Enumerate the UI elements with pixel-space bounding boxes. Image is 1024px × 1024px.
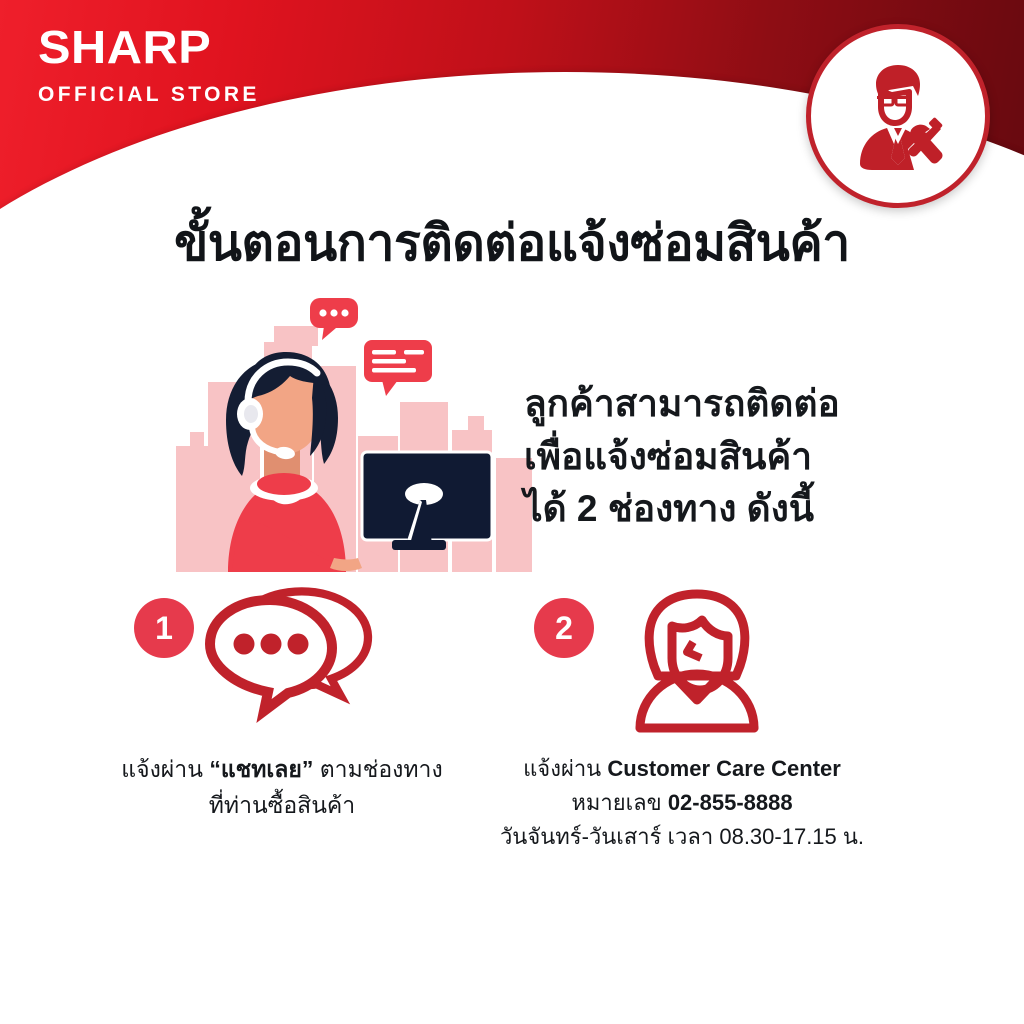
computer-monitor-shape [362,452,492,550]
channel-1-caption-pre: แจ้งผ่าน [121,756,209,782]
lead-line-1: ลูกค้าสามารถติดต่อ [524,378,934,431]
channel-1-icon-wrap [202,586,392,736]
lead-line-3: ได้ 2 ช่องทาง ดังนี้ [524,483,934,536]
channel-1-caption: แจ้งผ่าน “แชทเลย” ตามช่องทาง ที่ท่านซื้อ… [62,752,502,823]
technician-badge [806,24,990,208]
channel-2-phone-number: 02-855-8888 [668,790,793,815]
call-center-illustration [168,286,540,572]
channel-2-hours: วันจันทร์-วันเสาร์ เวลา 08.30-17.15 น. [462,820,902,854]
brand-name: SHARP [38,24,273,70]
brand-subtitle: OFFICIAL STORE [38,83,260,107]
lead-line-2: เพื่อแจ้งซ่อมสินค้า [524,431,934,484]
lead-paragraph: ลูกค้าสามารถติดต่อ เพื่อแจ้งซ่อมสินค้า ไ… [524,378,934,536]
channel-1-caption-line-2: ที่ท่านซื้อสินค้า [62,788,502,824]
brand-lockup: SHARP OFFICIAL STORE [38,24,260,107]
channel-1-caption-post: ตามช่องทาง [313,756,442,782]
call-center-agent-at-computer-illustration [168,286,540,572]
technician-with-tools-icon [832,50,964,182]
channel-2-caption-line-2: หมายเลข 02-855-8888 [462,786,902,820]
infographic-canvas: SHARP OFFICIAL STORE [0,0,1024,1024]
channel-2-phone-label: หมายเลข [571,790,667,815]
channel-2-caption-pre: แจ้งผ่าน [523,756,607,781]
agent-hand [330,558,362,571]
channel-2-number-badge: 2 [534,598,594,658]
chat-bubbles-icon [202,586,392,736]
channel-1-caption-line-1: แจ้งผ่าน “แชทเลย” ตามช่องทาง [62,752,502,788]
chat-message-bubble-icon [364,340,432,396]
channel-2-icon-wrap [602,586,792,736]
page-title: ขั้นตอนการติดต่อแจ้งซ่อมสินค้า [0,204,1024,283]
channel-2-caption: แจ้งผ่าน Customer Care Center หมายเลข 02… [462,752,902,854]
headset-agent-icon [602,586,792,736]
channel-1-number-badge: 1 [134,598,194,658]
channel-2-caption-strong: Customer Care Center [607,756,841,781]
channel-2-caption-line-1: แจ้งผ่าน Customer Care Center [462,752,902,786]
channel-1-caption-strong: “แชทเลย” [209,756,313,782]
